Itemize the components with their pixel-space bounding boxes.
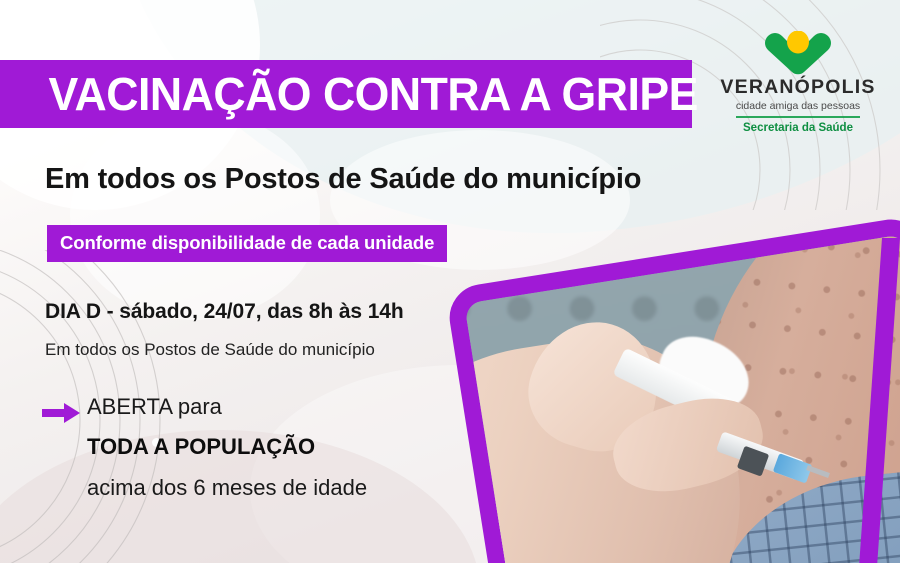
eligibility-line-1: ABERTA para (87, 396, 367, 418)
availability-badge: Conforme disponibilidade de cada unidade (47, 225, 447, 262)
vaccination-photo (445, 234, 900, 563)
title-banner: VACINAÇÃO CONTRA A GRIPE (0, 60, 692, 128)
logo-department: Secretaria da Saúde (718, 123, 878, 135)
logo-city-name: VERANÓPOLIS (718, 78, 878, 98)
eligibility-line-3: acima dos 6 meses de idade (87, 477, 367, 499)
eligibility-line-2: TODA A POPULAÇÃO (87, 436, 367, 458)
page-title: VACINAÇÃO CONTRA A GRIPE (0, 67, 698, 121)
logo-tagline: cidade amiga das pessoas (718, 101, 878, 112)
vaccination-campaign-poster: VACINAÇÃO CONTRA A GRIPE VERANÓPOLIS cid… (0, 0, 900, 563)
eligibility-block: ABERTA para TODA A POPULAÇÃO acima dos 6… (42, 396, 367, 499)
veranopolis-person-icon (718, 30, 878, 76)
dia-d-line: DIA D - sábado, 24/07, das 8h às 14h (45, 300, 404, 324)
veranopolis-logo: VERANÓPOLIS cidade amiga das pessoas Sec… (718, 30, 878, 134)
dia-d-subline: Em todos os Postos de Saúde do município (45, 340, 375, 360)
logo-divider (736, 116, 860, 118)
background-blob-a (70, 110, 320, 320)
arrow-right-icon (42, 401, 82, 425)
headline: Em todos os Postos de Saúde do município (45, 163, 641, 196)
